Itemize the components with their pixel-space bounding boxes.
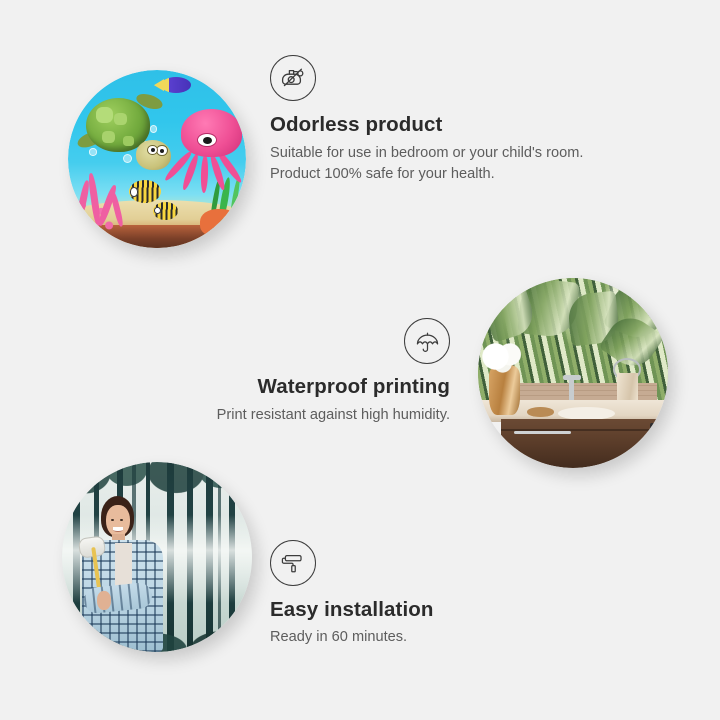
face xyxy=(106,505,130,537)
eye xyxy=(111,519,114,521)
feature-title: Waterproof printing xyxy=(130,375,450,399)
feature-odorless: Odorless product Suitable for use in bed… xyxy=(270,55,610,184)
striped-fish xyxy=(153,202,178,220)
umbrella-icon xyxy=(404,318,450,364)
photo-inner xyxy=(68,70,246,248)
feature-description: Suitable for use in bedroom or your chil… xyxy=(270,143,610,184)
feature-title: Easy installation xyxy=(270,598,570,622)
tentacle xyxy=(200,155,208,193)
soap-dish xyxy=(527,407,554,417)
feature-highlights-page: Odorless product Suitable for use in bed… xyxy=(0,0,720,720)
starfish xyxy=(200,209,239,237)
feature-description: Ready in 60 minutes. xyxy=(270,627,570,648)
striped-fish xyxy=(129,180,161,203)
white-flowers xyxy=(482,343,528,373)
turtle-eye xyxy=(156,145,167,156)
eye xyxy=(120,519,123,521)
paint-roller-icon xyxy=(270,540,316,586)
photo-inner xyxy=(62,462,252,652)
photo-inner xyxy=(478,278,668,468)
feature-description: Print resistant against high humidity. xyxy=(130,405,450,426)
octopus-eye xyxy=(197,133,217,147)
feature-waterproof: Waterproof printing Print resistant agai… xyxy=(130,318,450,426)
feature-installation: Easy installation Ready in 60 minutes. xyxy=(270,540,570,648)
underwater-cartoon-mural-photo xyxy=(68,70,246,248)
woman-paint-roller-forest-mural-photo xyxy=(62,462,252,652)
vanity-drawer-seam xyxy=(501,429,668,431)
no-odor-perfume-icon xyxy=(270,55,316,101)
pink-octopus xyxy=(168,109,243,191)
feature-title: Odorless product xyxy=(270,113,610,137)
wood-vanity-cabinet xyxy=(501,419,668,468)
turtle-head xyxy=(136,140,172,170)
smile xyxy=(113,527,123,532)
bathroom-tropical-wallpaper-photo xyxy=(478,278,668,468)
woman-figure xyxy=(77,492,187,652)
blue-fish xyxy=(161,77,191,93)
green-sea-turtle xyxy=(79,98,168,173)
cabinet-handle xyxy=(650,423,655,445)
octopus-head xyxy=(181,109,242,156)
